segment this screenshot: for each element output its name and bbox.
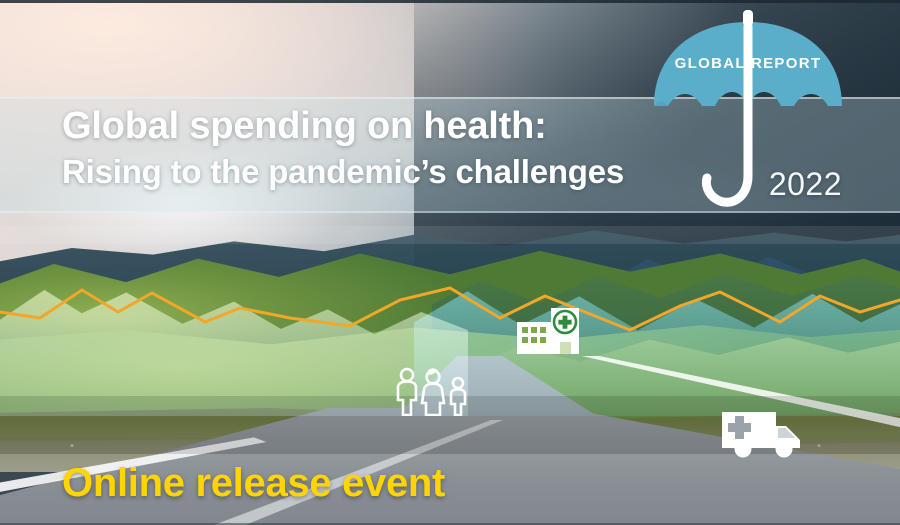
title-block: Global spending on health: Rising to the…	[62, 104, 742, 194]
page-title-line2: Rising to the pandemic’s challenges	[62, 151, 742, 194]
umbrella-label: GLOBAL REPORT	[642, 55, 854, 72]
top-edge-line	[0, 0, 900, 3]
poster-root: Global spending on health: Rising to the…	[0, 0, 900, 525]
zigzag-trend-line	[0, 276, 900, 346]
ambulance-icon	[718, 406, 806, 458]
page-title-line1: Global spending on health:	[62, 104, 742, 149]
hospital-icon	[513, 306, 585, 356]
overlay-band-upper	[0, 226, 900, 244]
umbrella-icon	[642, 8, 854, 220]
event-headline: Online release event	[62, 461, 445, 506]
family-icon	[392, 366, 474, 416]
